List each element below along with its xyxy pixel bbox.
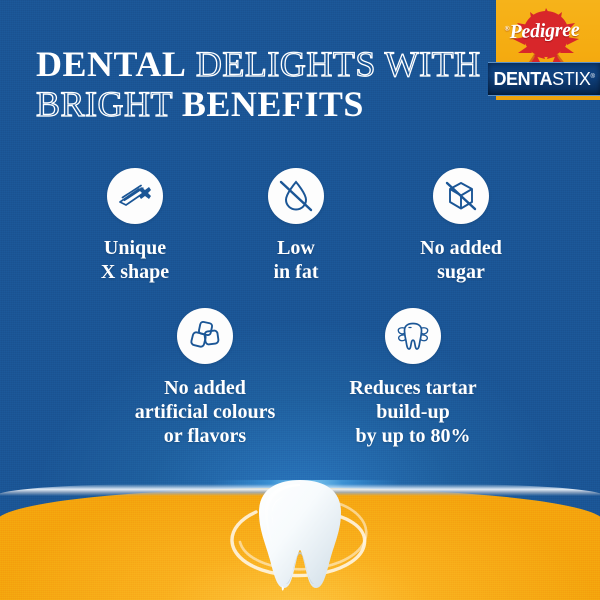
benefit-icon-circle [177,308,233,364]
benefit-item-reduces-tartar: Reduces tartar build-up by up to 80% [288,308,538,448]
color-swatches-icon [185,316,225,356]
benefit-icon-circle [107,168,163,224]
shiny-tooth-icon [393,316,433,356]
benefit-label: No added sugar [361,236,561,284]
dental-stick-icon [115,176,155,216]
benefit-icon-circle [433,168,489,224]
no-fat-droplet-icon [276,176,316,216]
benefit-icon-circle [385,308,441,364]
glowing-tooth-illustration [241,480,359,594]
benefit-label: Reduces tartar build-up by up to 80% [288,376,538,448]
benefit-icon-circle [268,168,324,224]
benefit-item-no-added-sugar: No added sugar [361,168,561,284]
no-sugar-cube-icon [441,176,481,216]
hero-band [0,480,600,600]
promo-poster: ®Pedigree DENTASTIX® DENTAL DELIGHTS WIT… [0,0,600,600]
